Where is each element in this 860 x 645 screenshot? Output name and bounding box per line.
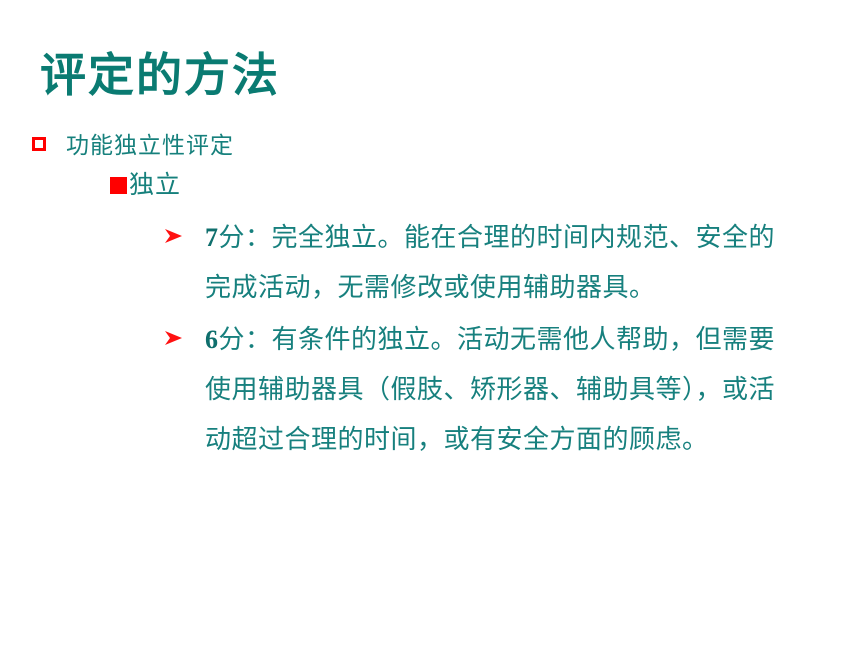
- hollow-square-bullet-icon: [32, 137, 46, 151]
- outline-item-level3[interactable]: 6分：有条件的独立。活动无需他人帮助，但需要使用辅助器具（假肢、矫形器、辅助具等…: [0, 315, 860, 465]
- outline-item-level2-label: 独立: [129, 169, 181, 203]
- outline-item-level3-label: 6分：有条件的独立。活动无需他人帮助，但需要使用辅助器具（假肢、矫形器、辅助具等…: [205, 315, 775, 465]
- outline-item-level2[interactable]: 独立: [0, 169, 860, 203]
- score-value: 6: [205, 325, 219, 354]
- score-description: 分：有条件的独立。活动无需他人帮助，但需要使用辅助器具（假肢、矫形器、辅助具等）…: [205, 325, 775, 454]
- score-description: 分：完全独立。能在合理的时间内规范、安全的完成活动，无需修改或使用辅助器具。: [205, 223, 775, 302]
- page-title: 评定的方法: [40, 48, 280, 103]
- outline-item-level1-label: 功能独立性评定: [66, 130, 234, 161]
- chevron-arrow-bullet-icon: [163, 227, 185, 245]
- filled-square-bullet-icon: [110, 177, 127, 194]
- slide-canvas: 评定的方法 功能独立性评定 独立 7分：完全独立。能在合理的时间内规范、安全的完…: [0, 0, 860, 645]
- slide-body-outline: 功能独立性评定 独立 7分：完全独立。能在合理的时间内规范、安全的完成活动，无需…: [0, 130, 860, 467]
- outline-item-level3-label: 7分：完全独立。能在合理的时间内规范、安全的完成活动，无需修改或使用辅助器具。: [205, 213, 775, 313]
- chevron-arrow-bullet-icon: [163, 329, 185, 347]
- score-value: 7: [205, 223, 219, 252]
- outline-item-level3[interactable]: 7分：完全独立。能在合理的时间内规范、安全的完成活动，无需修改或使用辅助器具。: [0, 213, 860, 313]
- outline-item-level1[interactable]: 功能独立性评定: [0, 130, 860, 161]
